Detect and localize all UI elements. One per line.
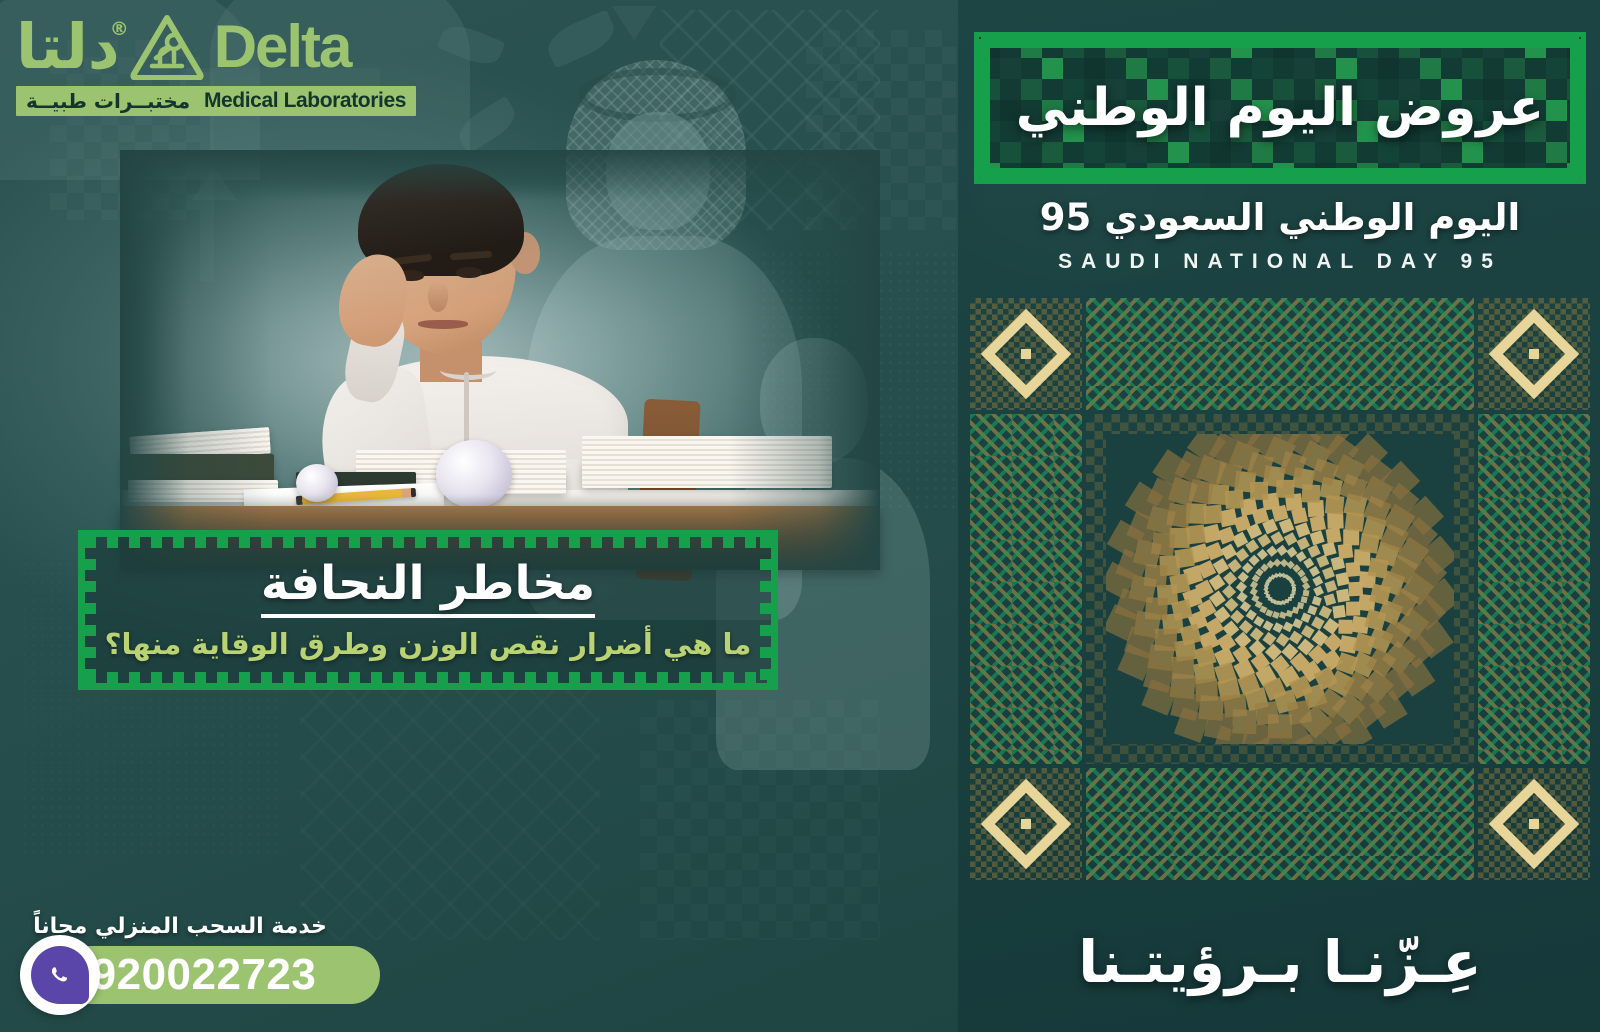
logo-arabic-name: دلتا	[16, 16, 120, 78]
logo-english-name: Delta	[214, 17, 351, 77]
offers-banner-text: عروض اليوم الوطني	[974, 32, 1586, 184]
national-day-panel: عروض اليوم الوطني اليوم الوطني السعودي 9…	[958, 0, 1600, 1032]
logo-tagline-arabic: مختبــرات طبيــة	[26, 89, 190, 113]
microscope-icon: ®	[130, 14, 204, 80]
central-rosette-cell	[1086, 414, 1474, 764]
left-content-panel: دلتا ® Delta	[0, 0, 958, 1032]
student-photo	[120, 150, 880, 570]
contact-block: خدمة السحب المنزلي مجاناً 920022723	[20, 914, 380, 1004]
sadu-pattern-grid	[970, 298, 1590, 880]
golden-spiral-rosette	[1115, 434, 1445, 744]
poster-canvas: دلتا ® Delta	[0, 0, 1600, 1032]
national-day-slogan: عِـزّنـا بـرؤيتـنا	[974, 928, 1586, 996]
feature-title: مخاطر النحافة	[261, 558, 595, 618]
logo-tagline-english: Medical Laboratories	[204, 89, 406, 113]
offers-banner: عروض اليوم الوطني	[974, 32, 1586, 184]
chevron-band-top	[1086, 298, 1474, 410]
national-day-headline-english: SAUDI NATIONAL DAY 95	[974, 250, 1586, 274]
diamond-motif-top-left	[1478, 298, 1590, 410]
feature-title-card: مخاطر النحافة ما هي أضرار نقص الوزن وطرق…	[78, 530, 778, 690]
feature-subtitle: ما هي أضرار نقص الوزن وطرق الوقاية منها؟	[105, 628, 752, 661]
chevron-band-bottom	[1086, 768, 1474, 880]
logo-tagline-bar: Medical Laboratories مختبــرات طبيــة	[16, 86, 416, 116]
national-day-headline-arabic: اليوم الوطني السعودي 95	[974, 196, 1586, 239]
phone-number[interactable]: 920022723	[92, 950, 351, 1000]
chevron-band-left	[1478, 414, 1590, 764]
registered-mark: ®	[110, 18, 129, 40]
diamond-motif-top-right	[970, 298, 1082, 410]
chevron-band-right	[970, 414, 1082, 764]
home-service-note: خدمة السحب المنزلي مجاناً	[28, 914, 332, 939]
diamond-motif-bottom-left	[1478, 768, 1590, 880]
brand-logo[interactable]: دلتا ® Delta	[16, 14, 416, 116]
phone-pill[interactable]: 920022723	[62, 946, 380, 1004]
diamond-motif-bottom-right	[970, 768, 1082, 880]
whatsapp-icon[interactable]	[20, 935, 100, 1015]
